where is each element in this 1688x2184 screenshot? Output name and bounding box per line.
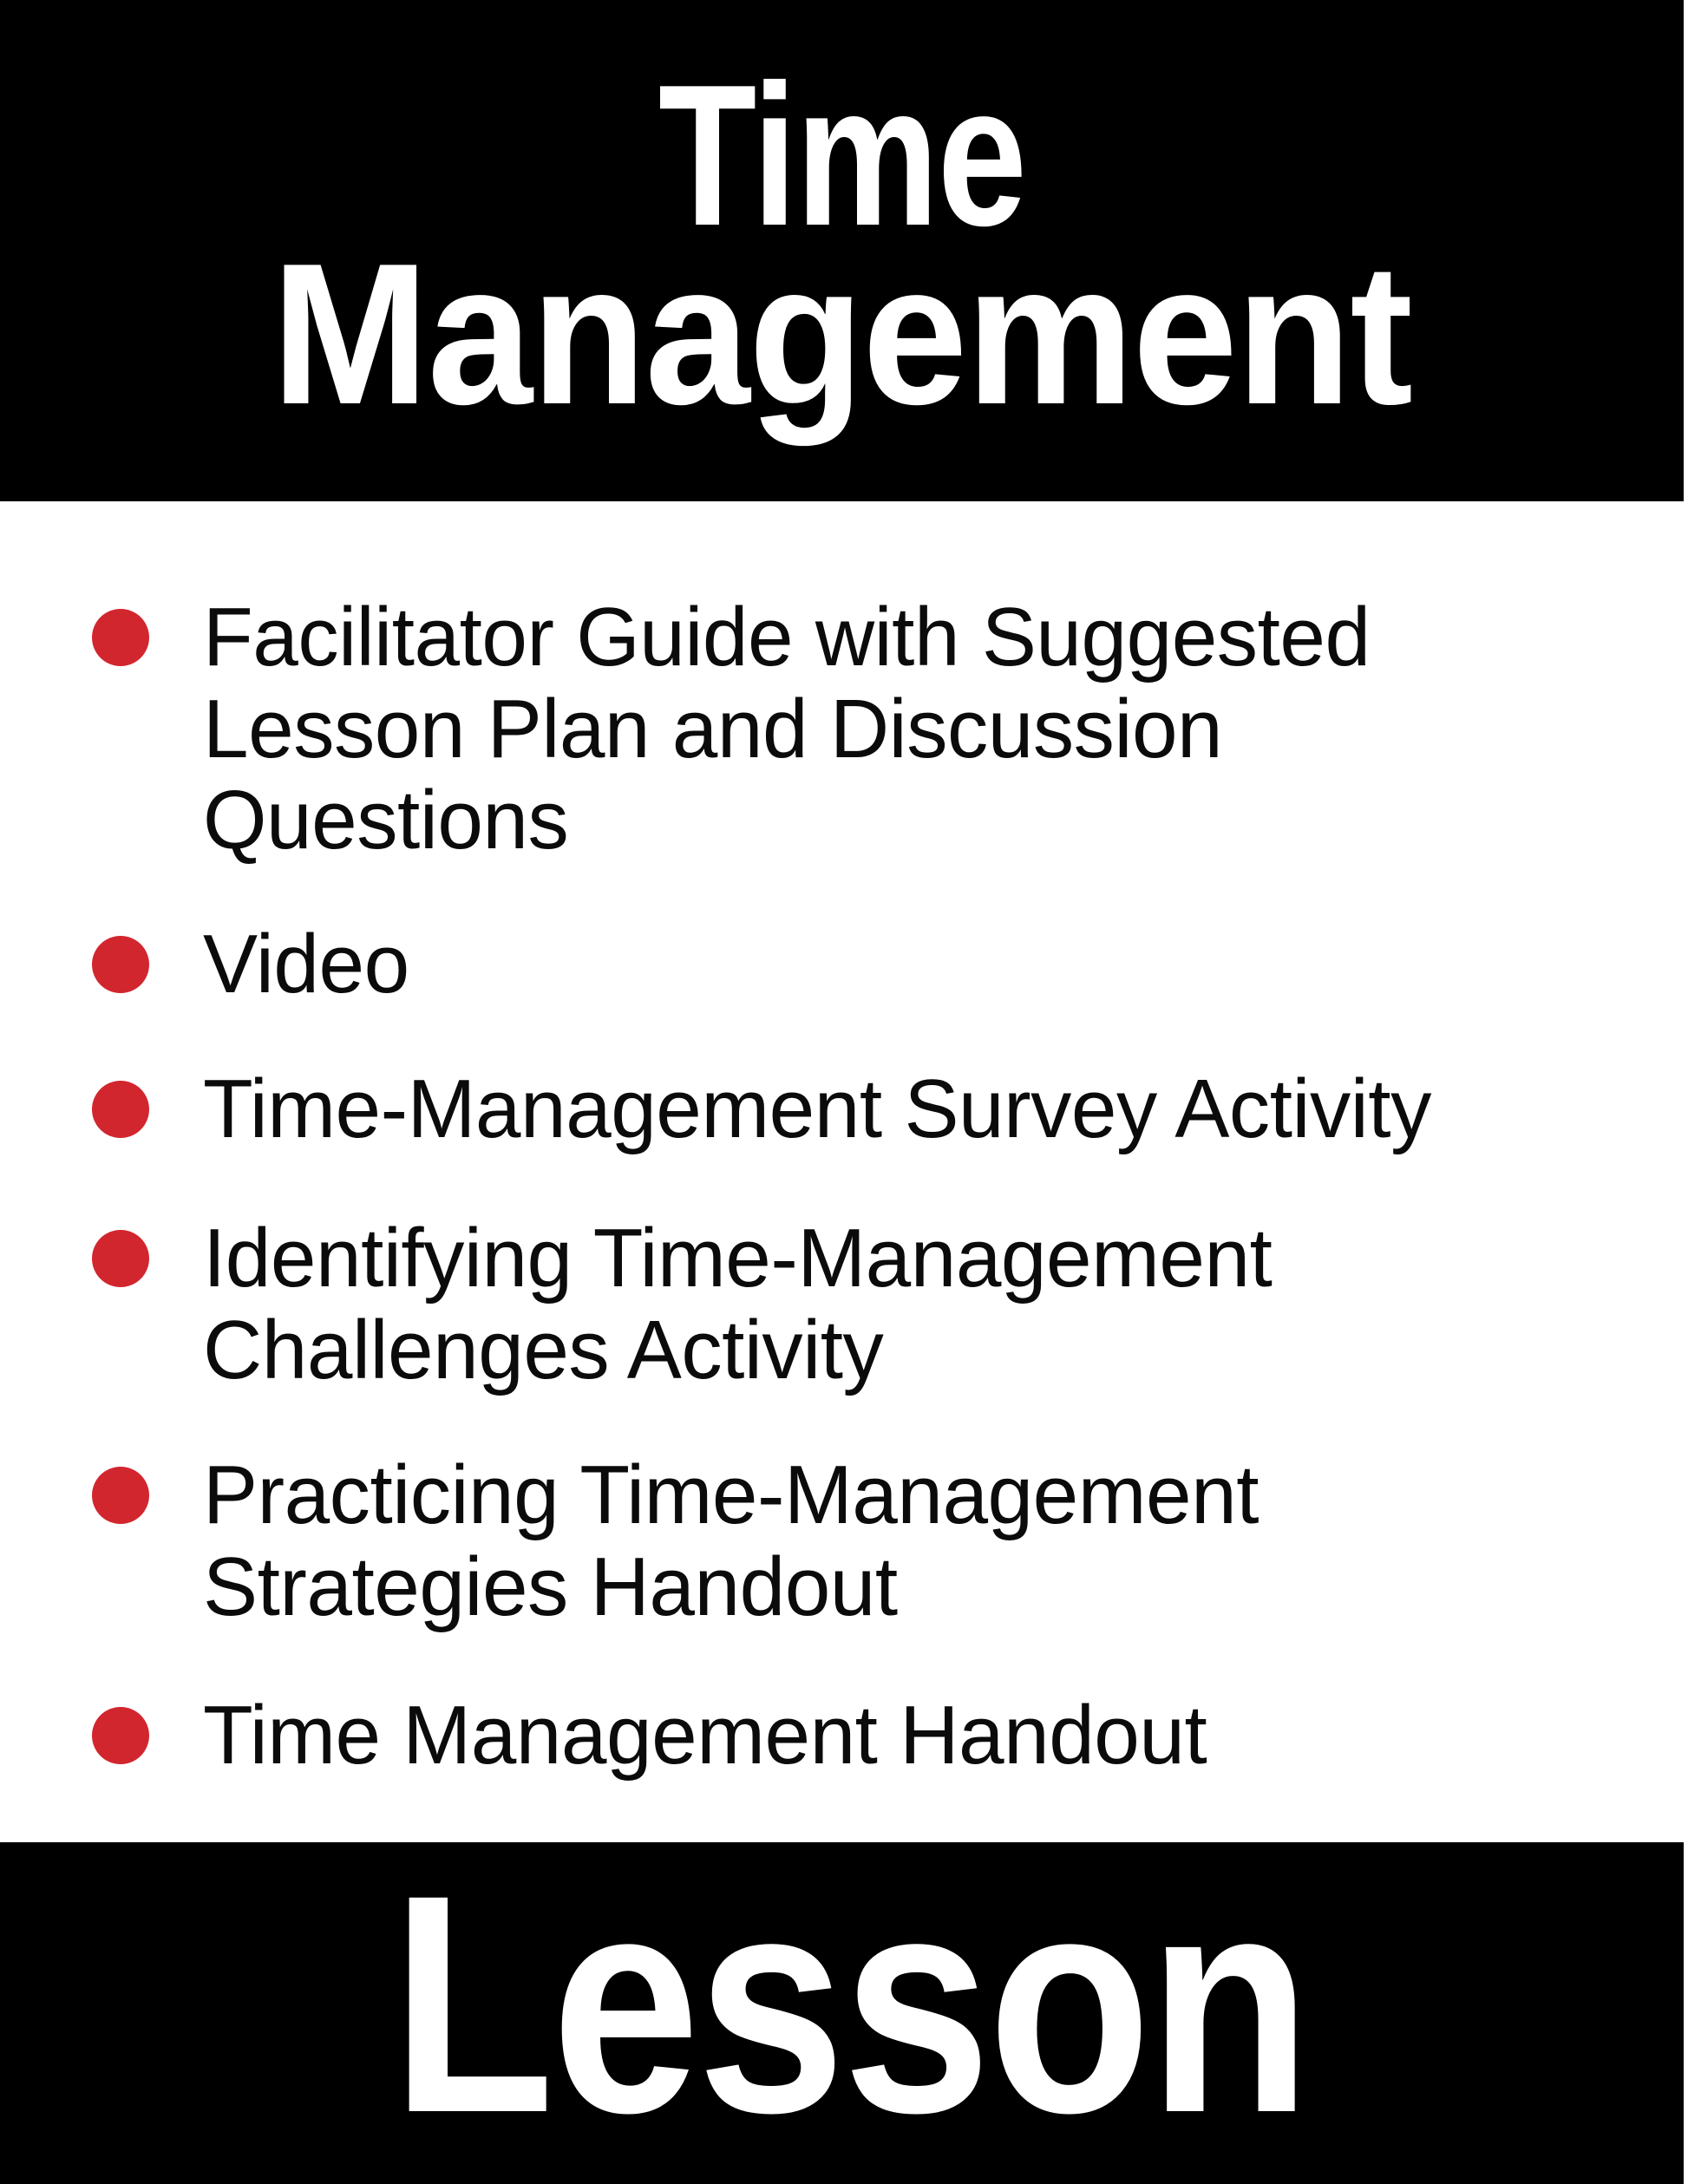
list-item-label: Identifying Time-Management Challenges A…	[203, 1213, 1536, 1396]
list-item-label: Video	[203, 919, 1536, 1010]
footer-banner: Lesson	[0, 1842, 1684, 2184]
red-dot-bullet-icon	[92, 1081, 149, 1138]
list-item: Practicing Time-Management Strategies Ha…	[0, 1449, 1684, 1632]
list-item-label: Practicing Time-Management Strategies Ha…	[203, 1449, 1536, 1632]
list-item: Facilitator Guide with Suggested Lesson …	[0, 592, 1684, 866]
list-item-label: Time Management Handout	[203, 1690, 1536, 1782]
red-dot-bullet-icon	[92, 1230, 149, 1287]
list-item: Identifying Time-Management Challenges A…	[0, 1213, 1684, 1396]
list-item-label: Time-Management Survey Activity	[203, 1063, 1536, 1155]
poster-page: Time Management Facilitator Guide with S…	[0, 0, 1688, 2184]
red-dot-bullet-icon	[92, 1707, 149, 1764]
materials-list: Facilitator Guide with Suggested Lesson …	[0, 501, 1684, 1782]
list-item-label: Facilitator Guide with Suggested Lesson …	[203, 592, 1536, 866]
red-dot-bullet-icon	[92, 609, 149, 666]
title-banner: Time Management	[0, 0, 1684, 501]
page-title-line-2: Management	[272, 241, 1411, 428]
red-dot-bullet-icon	[92, 936, 149, 993]
list-item: Time-Management Survey Activity	[0, 1063, 1684, 1155]
content-area: Facilitator Guide with Suggested Lesson …	[0, 501, 1684, 1842]
footer-label: Lesson	[391, 1848, 1308, 2159]
list-item: Video	[0, 919, 1684, 1010]
list-item: Time Management Handout	[0, 1690, 1684, 1782]
red-dot-bullet-icon	[92, 1467, 149, 1524]
